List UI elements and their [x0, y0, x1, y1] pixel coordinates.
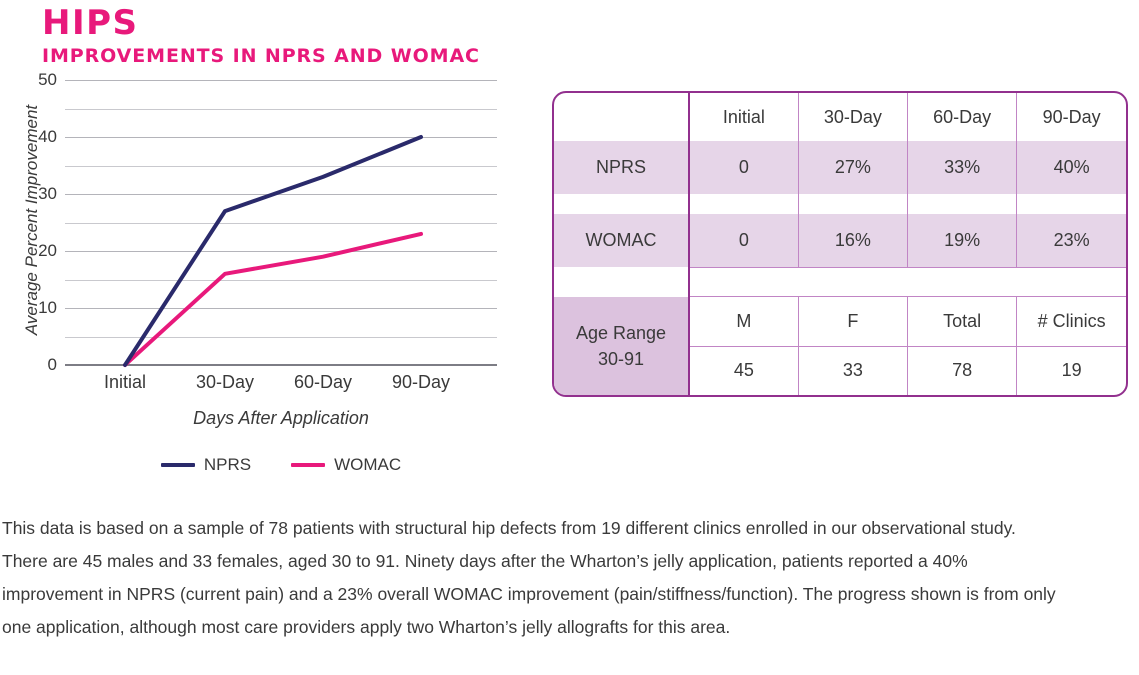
table-spacer-row-2: [554, 267, 1126, 297]
table-spacer-cell-1a: [689, 194, 798, 214]
table-cell-womac-30day: 16%: [798, 214, 907, 267]
page-header: HIPS IMPROVEMENTS IN NPRS AND WOMAC: [42, 6, 642, 66]
table-demo-header-f: F: [798, 297, 907, 346]
table-demographics-header-row: Age Range 30-91 M F Total # Clinics: [554, 297, 1126, 346]
table-spacer-cell-1d: [1017, 194, 1126, 214]
legend-swatch-nprs-icon: [161, 463, 195, 467]
table-demo-value-m: 45: [689, 346, 798, 395]
legend-item-womac: WOMAC: [291, 455, 401, 475]
series-line-nprs: [125, 137, 421, 365]
table-row-womac: WOMAC 0 16% 19% 23%: [554, 214, 1126, 267]
table-demo-value-f: 33: [798, 346, 907, 395]
table-spacer-cell-1c: [908, 194, 1017, 214]
description-block: This data is based on a sample of 78 pat…: [2, 512, 1062, 644]
legend-swatch-womac-icon: [291, 463, 325, 467]
table-demo-header-clinics: # Clinics: [1017, 297, 1126, 346]
legend-item-nprs: NPRS: [161, 455, 251, 475]
chart-x-tick-90day: 90-Day: [361, 372, 481, 393]
table-header-row: Initial 30-Day 60-Day 90-Day: [554, 93, 1126, 141]
legend-label-womac: WOMAC: [334, 455, 401, 475]
table-header-corner-cell: [554, 93, 689, 141]
chart-y-tick-10: 10: [0, 298, 57, 318]
page-subtitle: IMPROVEMENTS IN NPRS AND WOMAC: [42, 47, 642, 66]
table-cell-nprs-initial: 0: [689, 141, 798, 194]
table-cell-nprs-60day: 33%: [908, 141, 1017, 194]
page-title: HIPS: [42, 6, 642, 40]
table-cell-womac-60day: 19%: [908, 214, 1017, 267]
table-row-label-womac: WOMAC: [554, 214, 689, 267]
table-demo-header-m: M: [689, 297, 798, 346]
table-row-nprs: NPRS 0 27% 33% 40%: [554, 141, 1126, 194]
line-chart: Average Percent Improvement 50 40 30 20 …: [0, 80, 530, 490]
table-row-label-nprs: NPRS: [554, 141, 689, 194]
table-header-90day: 90-Day: [1017, 93, 1126, 141]
chart-plot-wrapper: 50 40 30 20 10 0 Initial 30-Day 60: [30, 80, 500, 380]
table-spacer-cell-label-1: [554, 194, 689, 214]
table-cell-womac-90day: 23%: [1017, 214, 1126, 267]
chart-y-tick-50: 50: [0, 70, 57, 90]
table-spacer-cell-1b: [798, 194, 907, 214]
chart-series-svg: [65, 80, 497, 365]
table-spacer-cell-label-2: [554, 267, 689, 297]
table-header-30day: 30-Day: [798, 93, 907, 141]
table-age-range-cell: Age Range 30-91: [554, 297, 689, 395]
table-age-range-label: Age Range: [554, 320, 688, 346]
chart-legend: NPRS WOMAC: [65, 455, 497, 475]
results-table-card: Initial 30-Day 60-Day 90-Day NPRS 0 27% …: [552, 91, 1128, 397]
table-demo-value-clinics: 19: [1017, 346, 1126, 395]
table-cell-nprs-30day: 27%: [798, 141, 907, 194]
table-demo-header-total: Total: [908, 297, 1017, 346]
table-header-60day: 60-Day: [908, 93, 1017, 141]
chart-x-axis-title: Days After Application: [65, 408, 497, 429]
chart-y-tick-30: 30: [0, 184, 57, 204]
legend-label-nprs: NPRS: [204, 455, 251, 475]
chart-y-tick-0: 0: [0, 355, 57, 375]
table-spacer-row-1: [554, 194, 1126, 214]
table-age-range-value: 30-91: [554, 346, 688, 372]
chart-y-tick-40: 40: [0, 127, 57, 147]
chart-y-tick-20: 20: [0, 241, 57, 261]
table-cell-womac-initial: 0: [689, 214, 798, 267]
results-table: Initial 30-Day 60-Day 90-Day NPRS 0 27% …: [554, 93, 1126, 395]
table-header-initial: Initial: [689, 93, 798, 141]
description-paragraph: This data is based on a sample of 78 pat…: [2, 512, 1062, 644]
table-demo-value-total: 78: [908, 346, 1017, 395]
chart-plot-area: [65, 80, 497, 365]
table-spacer-band: [689, 267, 1126, 297]
table-cell-nprs-90day: 40%: [1017, 141, 1126, 194]
